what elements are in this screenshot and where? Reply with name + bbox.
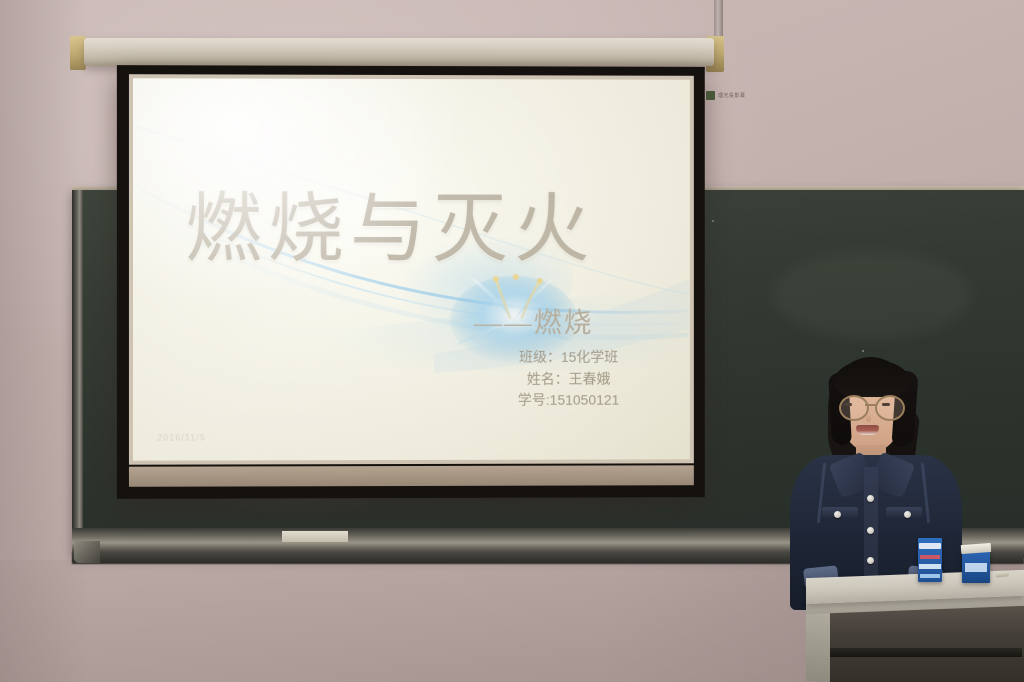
screen-brand-label: 理光投影幕 (718, 92, 746, 99)
projector-screen-casing[interactable]: 理光投影幕 (84, 38, 714, 66)
slide-meta-student-id: 学号:151050121 (464, 390, 673, 412)
slide-title: 燃烧与灭火 (185, 191, 625, 271)
slide-presenter-info: 班级：15化学班 姓名：王春娥 学号:151050121 (464, 347, 673, 412)
box-stripe (920, 555, 940, 559)
jacket-button (867, 557, 874, 564)
chalk-tray-insert (282, 531, 348, 542)
box-stripe (919, 564, 941, 569)
projector-screen-weight-bar (129, 465, 694, 487)
jacket-button (867, 527, 874, 534)
chalk-speck (862, 350, 864, 352)
chalk-box-open[interactable] (962, 551, 990, 583)
classroom-scene-photo: 理光投影幕 (0, 0, 1024, 682)
slide-date-watermark: 2016/11/5 (157, 432, 206, 442)
chalk-speck (712, 220, 714, 222)
chalk-smudge (772, 250, 972, 340)
projector-screen-border: 燃烧与灭火 ——燃烧 班级：15化学班 姓名：王春娥 学号:151050121 … (117, 65, 705, 499)
glasses-lens-right (875, 395, 905, 421)
box-label (965, 563, 987, 572)
student-presenter (790, 355, 970, 610)
screen-brand-logo: 理光投影幕 (706, 90, 764, 101)
glasses-icon (838, 395, 904, 417)
slide-meta-name: 姓名：王春娥 (464, 368, 673, 390)
presentation-slide[interactable]: 燃烧与灭火 ——燃烧 班级：15化学班 姓名：王春娥 学号:151050121 … (133, 78, 690, 460)
blackboard-corner-bracket (74, 541, 100, 563)
blackboard-left-frame (72, 190, 83, 562)
lectern-shelf (826, 648, 1022, 657)
box-stripe (920, 574, 940, 578)
slide-subtitle: ——燃烧 (474, 301, 594, 341)
lectern-body (818, 604, 1024, 682)
chalk-box-tall[interactable] (918, 538, 942, 582)
jacket-pocket-button (834, 511, 841, 518)
jacket-button (867, 495, 874, 502)
box-lid-flap (961, 543, 992, 554)
box-stripe (919, 543, 941, 549)
jacket-pocket-button (904, 511, 911, 518)
slide-meta-class: 班级：15化学班 (464, 347, 673, 369)
brand-mark-icon (706, 91, 715, 100)
hair-fringe (834, 361, 910, 397)
nose (866, 413, 871, 422)
mouth-smiling (856, 425, 879, 435)
glasses-lens-left (839, 395, 869, 421)
